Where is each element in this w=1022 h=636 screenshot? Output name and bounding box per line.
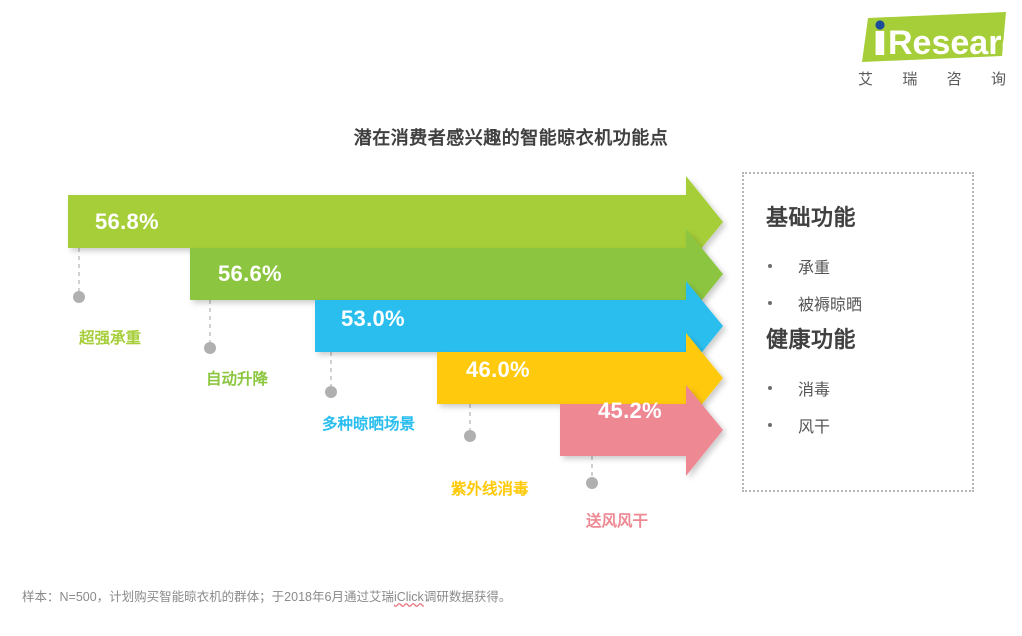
panel-item-health-1: 风干: [768, 413, 830, 437]
panel-item-label: 被褥晾晒: [798, 291, 862, 315]
panel-item-label: 承重: [798, 254, 830, 278]
panel-item-label: 消毒: [798, 376, 830, 400]
panel-item-label: 风干: [798, 413, 830, 437]
panel-heading-health: 健康功能: [766, 322, 856, 354]
category-label-0: 超强承重: [79, 326, 141, 348]
bar-value-4: 45.2%: [598, 398, 662, 424]
panel-heading-basic: 基础功能: [766, 200, 856, 232]
category-label-2: 多种晾晒场景: [322, 412, 415, 434]
category-label-1: 自动升降: [206, 367, 268, 389]
bullet-icon: [768, 264, 772, 268]
bullet-icon: [768, 423, 772, 427]
panel-item-basic-1: 被褥晾晒: [768, 291, 862, 315]
footnote-part-3: 调研数据获得。: [424, 590, 512, 604]
slide-canvas: Research 艾 瑞 咨 询 潜在消费者感兴趣的智能晾衣机功能点: [0, 0, 1022, 636]
bullet-icon: [768, 386, 772, 390]
category-label-3: 紫外线消毒: [451, 477, 529, 499]
bar-value-0: 56.8%: [95, 209, 159, 235]
footnote-part-1: 样本：N=500，计划购买智能晾衣机的群体；于2018年6月通过艾瑞: [22, 590, 394, 604]
footnote-iclick: iClick: [394, 590, 424, 604]
source-footnote: 样本：N=500，计划购买智能晾衣机的群体；于2018年6月通过艾瑞iClick…: [22, 586, 922, 605]
panel-item-health-0: 消毒: [768, 376, 830, 400]
bar-value-2: 53.0%: [341, 306, 405, 332]
bullet-icon: [768, 301, 772, 305]
function-groups-panel: 基础功能 承重 被褥晾晒 健康功能 消毒 风干: [742, 172, 974, 492]
bar-value-1: 56.6%: [218, 261, 282, 287]
panel-item-basic-0: 承重: [768, 254, 830, 278]
bar-value-3: 46.0%: [466, 357, 530, 383]
category-label-4: 送风风干: [586, 509, 648, 531]
